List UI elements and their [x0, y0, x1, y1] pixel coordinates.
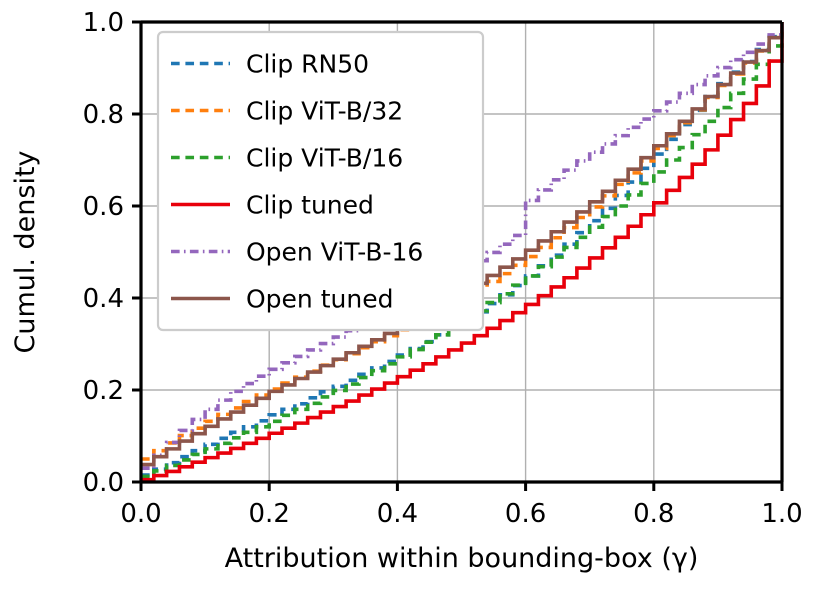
chart-figure: 0.00.20.40.60.81.00.00.20.40.60.81.0 Att…	[0, 0, 831, 607]
y-tick-label: 0.2	[83, 376, 124, 406]
x-tick-label: 0.8	[633, 499, 674, 529]
x-axis-label: Attribution within bounding-box (γ)	[225, 543, 699, 574]
cumulative-density-plot: 0.00.20.40.60.81.00.00.20.40.60.81.0 Att…	[0, 0, 831, 607]
y-tick-label: 0.4	[83, 284, 124, 314]
y-tick-label: 0.6	[83, 192, 124, 222]
legend-label: Clip ViT-B/32	[246, 97, 403, 126]
y-axis-label: Cumul. density	[10, 150, 41, 353]
y-tick-label: 1.0	[83, 8, 124, 38]
x-tick-label: 0.0	[120, 499, 161, 529]
x-tick-label: 1.0	[761, 499, 802, 529]
x-tick-label: 0.2	[249, 499, 290, 529]
legend-label: Open tuned	[246, 285, 393, 314]
x-tick-label: 0.4	[377, 499, 418, 529]
legend-label: Clip RN50	[246, 50, 369, 79]
chart-legend[interactable]: Clip RN50Clip ViT-B/32Clip ViT-B/16Clip …	[158, 32, 483, 330]
y-tick-label: 0.0	[83, 468, 124, 498]
legend-label: Clip ViT-B/16	[246, 144, 403, 173]
legend-label: Clip tuned	[246, 191, 374, 220]
legend-label: Open ViT-B-16	[246, 238, 423, 267]
y-tick-label: 0.8	[83, 100, 124, 130]
x-tick-label: 0.6	[505, 499, 546, 529]
